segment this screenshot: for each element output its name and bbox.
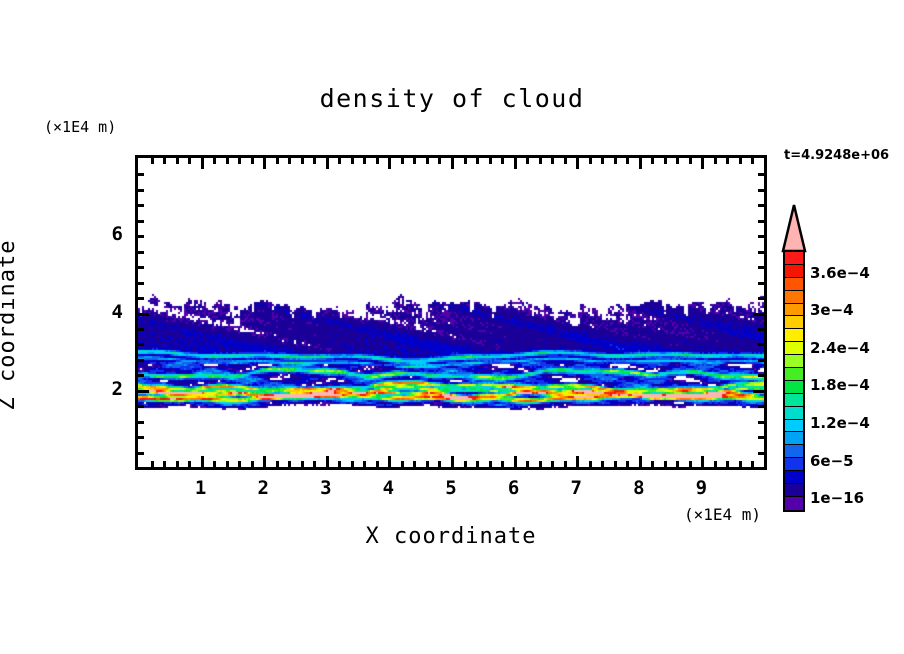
tick-mark: [388, 456, 391, 467]
tick-mark: [501, 461, 504, 467]
tick-mark: [426, 158, 429, 164]
tick-mark: [138, 436, 144, 439]
tick-mark: [138, 297, 144, 300]
tick-mark: [564, 461, 567, 467]
tick-mark: [326, 158, 329, 169]
tick-mark: [464, 461, 467, 467]
colorbar-band: [785, 394, 803, 407]
tick-mark: [201, 158, 204, 169]
tick-mark: [201, 456, 204, 467]
tick-mark: [426, 461, 429, 467]
tick-mark: [176, 461, 179, 467]
tick-mark: [288, 461, 291, 467]
tick-mark: [551, 158, 554, 164]
tick-mark: [138, 204, 144, 207]
tick-mark: [758, 297, 764, 300]
x-tick-label: 1: [186, 477, 216, 499]
colorbar-tick-label: 1.2e−4: [810, 414, 870, 432]
colorbar-band: [785, 420, 803, 433]
colorbar-tick-label: 3e−4: [810, 301, 854, 319]
tick-mark: [138, 328, 144, 331]
tick-mark: [276, 461, 279, 467]
y-tick-label: 6: [93, 223, 123, 245]
tick-mark: [351, 461, 354, 467]
x-tick-label: 8: [624, 477, 654, 499]
tick-mark: [138, 374, 144, 377]
colorbar-band: [785, 458, 803, 471]
tick-mark: [758, 266, 764, 269]
tick-mark: [188, 158, 191, 164]
tick-mark: [138, 390, 149, 393]
tick-mark: [326, 456, 329, 467]
tick-mark: [726, 158, 729, 164]
tick-mark: [438, 158, 441, 164]
tick-mark: [526, 461, 529, 467]
colorbar-tick-label: 2.4e−4: [810, 339, 870, 357]
tick-mark: [651, 461, 654, 467]
colorbar-band: [785, 484, 803, 497]
tick-mark: [758, 251, 764, 254]
tick-mark: [251, 158, 254, 164]
tick-mark: [476, 461, 479, 467]
colorbar-band: [785, 316, 803, 329]
colorbar-band: [785, 471, 803, 484]
tick-mark: [758, 343, 764, 346]
tick-mark: [213, 158, 216, 164]
colorbar-band: [785, 329, 803, 342]
tick-mark: [739, 158, 742, 164]
tick-mark: [751, 158, 754, 164]
tick-mark: [413, 461, 416, 467]
tick-mark: [514, 456, 517, 467]
tick-mark: [138, 251, 144, 254]
tick-mark: [626, 158, 629, 164]
tick-mark: [639, 158, 642, 169]
tick-mark: [758, 374, 764, 377]
tick-mark: [138, 421, 144, 424]
tick-mark: [376, 461, 379, 467]
tick-mark: [251, 461, 254, 467]
tick-mark: [701, 158, 704, 169]
tick-mark: [338, 461, 341, 467]
tick-mark: [589, 158, 592, 164]
x-tick-label: 7: [561, 477, 591, 499]
tick-mark: [664, 461, 667, 467]
tick-mark: [601, 158, 604, 164]
colorbar-gradient: [783, 250, 805, 512]
tick-mark: [163, 158, 166, 164]
tick-mark: [551, 461, 554, 467]
y-axis-title: Z coordinate: [0, 225, 20, 425]
tick-mark: [226, 158, 229, 164]
tick-mark: [388, 158, 391, 169]
tick-mark: [176, 158, 179, 164]
y-tick-label: 4: [93, 301, 123, 323]
tick-mark: [501, 158, 504, 164]
tick-mark: [138, 235, 144, 238]
tick-mark: [138, 359, 144, 362]
tick-mark: [758, 235, 764, 238]
y-tick-label: 2: [93, 378, 123, 400]
tick-mark: [276, 158, 279, 164]
tick-mark: [664, 158, 667, 164]
colorbar-tick-label: 1e−16: [810, 489, 864, 507]
tick-mark: [514, 158, 517, 169]
tick-mark: [676, 158, 679, 164]
tick-mark: [758, 282, 764, 285]
tick-mark: [576, 158, 579, 169]
tick-mark: [689, 461, 692, 467]
tick-mark: [238, 461, 241, 467]
tick-mark: [489, 158, 492, 164]
tick-mark: [363, 461, 366, 467]
tick-mark: [576, 456, 579, 467]
tick-mark: [138, 189, 144, 192]
tick-mark: [753, 390, 764, 393]
tick-mark: [151, 158, 154, 164]
tick-mark: [758, 328, 764, 331]
plot-area: [135, 155, 767, 470]
tick-mark: [138, 313, 149, 316]
colorbar-band: [785, 304, 803, 317]
tick-mark: [451, 158, 454, 169]
tick-mark: [188, 461, 191, 467]
y-unit-label: (×1E4 m): [44, 118, 116, 136]
tick-mark: [758, 436, 764, 439]
x-axis-title: X coordinate: [135, 524, 767, 549]
tick-mark: [614, 158, 617, 164]
x-unit-label: (×1E4 m): [684, 505, 761, 524]
cloud-density-field: [138, 158, 764, 467]
tick-mark: [288, 158, 291, 164]
colorbar-band: [785, 432, 803, 445]
colorbar-band: [785, 252, 803, 265]
tick-mark: [301, 158, 304, 164]
tick-mark: [438, 461, 441, 467]
colorbar-band: [785, 342, 803, 355]
tick-mark: [138, 173, 144, 176]
tick-mark: [714, 461, 717, 467]
tick-mark: [689, 158, 692, 164]
tick-mark: [758, 204, 764, 207]
colorbar-tick-label: 6e−5: [810, 452, 854, 470]
tick-mark: [753, 313, 764, 316]
x-tick-label: 5: [436, 477, 466, 499]
tick-mark: [313, 158, 316, 164]
tick-mark: [651, 158, 654, 164]
colorbar-band: [785, 291, 803, 304]
colorbar-tick-label: 3.6e−4: [810, 264, 870, 282]
tick-mark: [751, 461, 754, 467]
figure-root: density of cloud (×1E4 m) t=4.9248e+06 1…: [0, 0, 904, 654]
tick-mark: [758, 189, 764, 192]
colorbar-band: [785, 497, 803, 510]
x-tick-label: 9: [686, 477, 716, 499]
tick-mark: [714, 158, 717, 164]
colorbar-band: [785, 407, 803, 420]
tick-mark: [539, 158, 542, 164]
tick-mark: [363, 158, 366, 164]
tick-mark: [213, 461, 216, 467]
tick-mark: [539, 461, 542, 467]
tick-mark: [601, 461, 604, 467]
tick-mark: [758, 452, 764, 455]
tick-mark: [758, 359, 764, 362]
tick-mark: [138, 343, 144, 346]
tick-mark: [138, 452, 144, 455]
figure-title: density of cloud: [0, 84, 904, 113]
tick-mark: [526, 158, 529, 164]
colorbar-band: [785, 381, 803, 394]
colorbar-band: [785, 355, 803, 368]
tick-mark: [138, 220, 144, 223]
x-tick-label: 6: [499, 477, 529, 499]
tick-mark: [263, 158, 266, 169]
tick-mark: [758, 405, 764, 408]
tick-mark: [238, 158, 241, 164]
x-tick-label: 4: [373, 477, 403, 499]
tick-mark: [263, 456, 266, 467]
tick-mark: [351, 158, 354, 164]
tick-mark: [758, 421, 764, 424]
tick-mark: [163, 461, 166, 467]
colorbar-band: [785, 265, 803, 278]
tick-mark: [758, 220, 764, 223]
tick-mark: [226, 461, 229, 467]
tick-mark: [701, 456, 704, 467]
tick-mark: [376, 158, 379, 164]
timestamp-annotation: t=4.9248e+06: [784, 148, 889, 163]
tick-mark: [476, 158, 479, 164]
tick-mark: [758, 173, 764, 176]
tick-mark: [464, 158, 467, 164]
tick-mark: [589, 461, 592, 467]
tick-mark: [739, 461, 742, 467]
tick-mark: [138, 405, 144, 408]
colorbar-band: [785, 278, 803, 291]
tick-mark: [301, 461, 304, 467]
tick-mark: [639, 456, 642, 467]
tick-mark: [489, 461, 492, 467]
tick-mark: [626, 461, 629, 467]
colorbar-band: [785, 368, 803, 381]
colorbar-tick-label: 1.8e−4: [810, 376, 870, 394]
tick-mark: [138, 266, 144, 269]
tick-mark: [401, 158, 404, 164]
colorbar-over-arrow-icon: [781, 203, 807, 253]
colorbar-band: [785, 445, 803, 458]
x-tick-label: 3: [311, 477, 341, 499]
tick-mark: [401, 461, 404, 467]
tick-mark: [614, 461, 617, 467]
tick-mark: [413, 158, 416, 164]
tick-mark: [151, 461, 154, 467]
tick-mark: [313, 461, 316, 467]
tick-mark: [726, 461, 729, 467]
tick-mark: [138, 282, 144, 285]
tick-mark: [451, 456, 454, 467]
tick-mark: [564, 158, 567, 164]
tick-mark: [676, 461, 679, 467]
tick-mark: [338, 158, 341, 164]
x-tick-label: 2: [248, 477, 278, 499]
